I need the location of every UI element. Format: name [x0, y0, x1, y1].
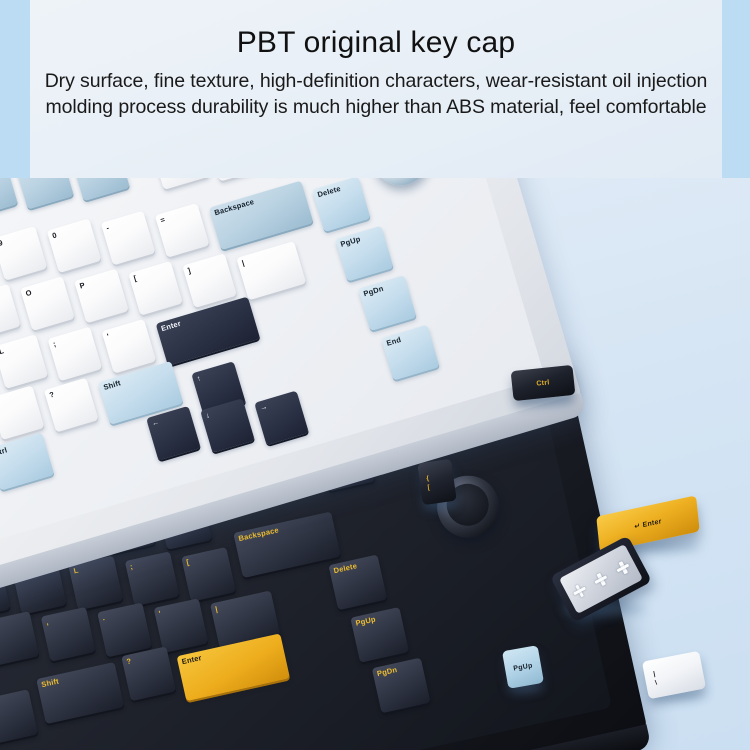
key-legend: Shift: [103, 379, 122, 391]
key-fn[interactable]: Fn: [0, 689, 38, 745]
key-backspace[interactable]: Backspace: [209, 181, 314, 250]
switch-stem-icon: [570, 582, 588, 600]
key-legend: ': [158, 610, 162, 618]
key-pgup[interactable]: PgUp: [335, 226, 394, 282]
key-legend: .: [102, 614, 106, 622]
key-legend: 9: [0, 239, 4, 247]
key-f6[interactable]: F6: [0, 178, 18, 218]
key-legend: Backspace: [238, 526, 280, 542]
keycap-legend: PgUp: [502, 645, 544, 689]
page-subtitle: Dry surface, fine texture, high-definiti…: [30, 59, 722, 121]
key-legend: Ctrl: [0, 446, 8, 457]
key-[interactable]: ]: [182, 253, 237, 308]
key-[interactable]: ?: [121, 646, 176, 701]
key-0[interactable]: 0: [47, 218, 102, 273]
key-legend: ;: [129, 563, 133, 571]
keycap-legend-lower: [: [427, 484, 430, 491]
key-pgdn[interactable]: PgDn: [358, 275, 417, 331]
key-delete[interactable]: Delete: [312, 178, 371, 232]
key-legend: Delete: [333, 562, 358, 574]
key-pgdn[interactable]: PgDn: [372, 658, 431, 714]
key-legend: |: [215, 605, 219, 613]
key-legend: ←: [151, 418, 161, 427]
key-legend: Enter: [160, 320, 181, 333]
switch-stem-icon: [614, 559, 632, 577]
product-image-page: PBT original key cap Dry surface, fine t…: [0, 0, 750, 750]
key-shift[interactable]: Shift: [36, 662, 124, 724]
key-legend: Delete: [317, 185, 342, 199]
key-[interactable]: ;: [125, 551, 180, 606]
key-legend: Shift: [41, 678, 60, 689]
key-legend: ': [106, 333, 110, 341]
key-[interactable]: ,: [41, 607, 96, 662]
key-legend: PgDn: [376, 666, 398, 678]
key-legend: ]: [187, 267, 192, 275]
key-legend: -: [105, 224, 110, 232]
header-block: PBT original key cap Dry surface, fine t…: [30, 0, 722, 186]
key-l[interactable]: L: [0, 334, 48, 389]
key-enter[interactable]: Enter: [156, 296, 261, 365]
key-legend: PgUp: [355, 615, 377, 627]
key-legend: PgDn: [363, 285, 385, 298]
key-p[interactable]: P: [74, 269, 129, 324]
key-delete[interactable]: Delete: [328, 554, 387, 610]
key-[interactable]: ': [102, 319, 157, 374]
key-legend: ,: [45, 618, 49, 626]
key-backspace[interactable]: Backspace: [233, 512, 341, 579]
key-legend: Backspace: [214, 198, 255, 217]
keycap-legend-upper: {: [426, 475, 430, 482]
key-[interactable]: -: [101, 211, 156, 266]
key-[interactable]: ←: [146, 406, 201, 461]
key-legend: ?: [49, 391, 56, 400]
key-[interactable]: ;: [48, 327, 103, 382]
product-photo-scene: TYUIOPF11F12GHJKL;[BackspaceBNM,.'|Delet…: [0, 178, 750, 750]
key-[interactable]: =: [155, 203, 210, 258]
key-legend: ↓: [205, 411, 211, 419]
key-legend: L: [0, 347, 5, 356]
key-ctrl[interactable]: Ctrl: [0, 433, 54, 491]
key-legend: ?: [126, 657, 132, 665]
keycap-legend-lower: \: [655, 679, 658, 686]
key-legend: P: [79, 281, 86, 290]
key-[interactable]: [: [181, 547, 236, 602]
key-legend: =: [160, 216, 167, 224]
key-i[interactable]: I: [0, 284, 21, 339]
loose-keycap-brace[interactable]: { [: [417, 459, 457, 505]
keycap-legend-upper: |: [653, 671, 656, 678]
key-[interactable]: .: [0, 385, 45, 440]
key-legend: 0: [51, 231, 57, 239]
key-legend: O: [25, 289, 33, 298]
key-end[interactable]: End: [381, 325, 440, 381]
page-title: PBT original key cap: [30, 0, 722, 59]
key-legend: PgUp: [340, 235, 362, 248]
key-legend: ;: [52, 340, 57, 348]
key-[interactable]: ': [154, 598, 209, 653]
key-9[interactable]: 9: [0, 226, 47, 281]
key-pgup[interactable]: PgUp: [350, 607, 409, 663]
key-legend: [: [186, 558, 190, 566]
key-[interactable]: .: [97, 603, 152, 658]
key-legend: L: [73, 567, 79, 575]
key-m[interactable]: M: [0, 611, 39, 666]
key-[interactable]: →: [254, 391, 309, 446]
key-legend: |: [241, 259, 245, 267]
key-[interactable]: |: [236, 241, 306, 300]
key-legend: Enter: [181, 654, 202, 666]
key-legend: →: [259, 403, 269, 412]
switch-stem-icon: [592, 570, 610, 588]
loose-keycap-pgup[interactable]: PgUp: [502, 645, 544, 689]
key-legend: ↑: [196, 374, 202, 382]
key-[interactable]: [: [128, 261, 183, 316]
key-legend: End: [386, 336, 402, 347]
key-[interactable]: ?: [44, 378, 99, 433]
key-legend: [: [133, 274, 138, 282]
key-o[interactable]: O: [20, 276, 75, 331]
